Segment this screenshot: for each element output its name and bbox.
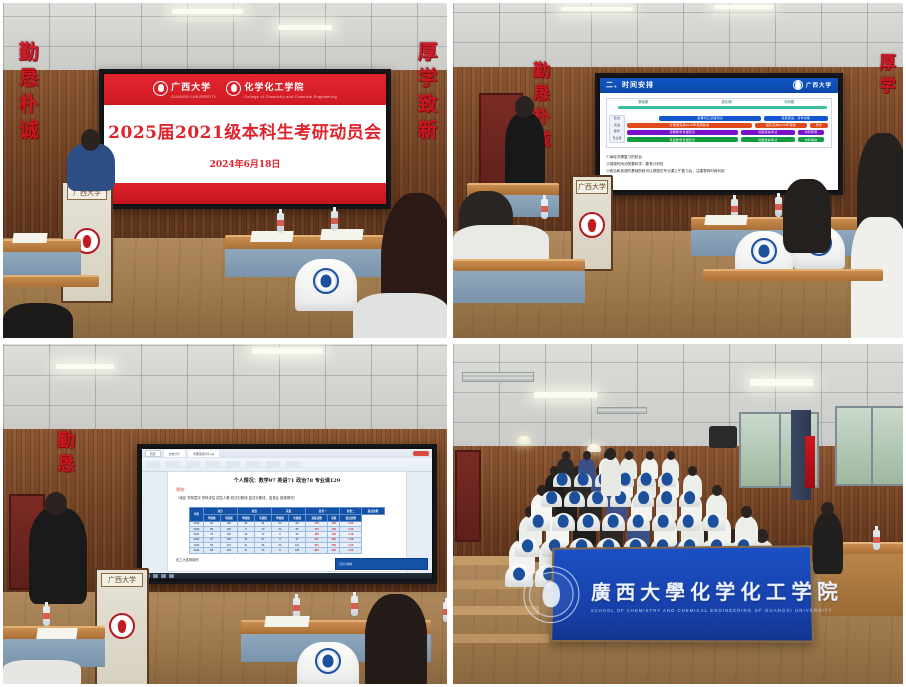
- row-label: 专业课: [612, 137, 621, 141]
- timeline-rows: 掌握词汇基础知识真题阅读、写作训练分题型完成2010年真题集训强化完成2010年…: [627, 115, 828, 144]
- college-emblem-icon: [659, 516, 669, 526]
- timeline-row: 分题型完成2010年真题集训强化完成2010年真题作文: [627, 123, 828, 128]
- college-emblem-icon: [226, 81, 241, 96]
- college-emblem-icon: [709, 516, 719, 526]
- water-bottle: [277, 213, 284, 233]
- table-sub-header: 专硕线: [220, 514, 237, 521]
- audience-member: [3, 660, 81, 687]
- ceiling-light: [172, 9, 243, 14]
- speaker-body: [29, 508, 87, 604]
- table-cell: 2024: [190, 548, 203, 553]
- college-emblem-icon: [593, 494, 602, 503]
- speaker-body: [505, 113, 545, 191]
- university-emblem-icon: [153, 81, 168, 96]
- desk: [703, 269, 883, 281]
- ceiling-light: [56, 364, 114, 369]
- projection-screen: 首页 文档分享 考研经验分享.ppt: [137, 444, 437, 584]
- timeline-segment: 掌握词汇基础知识: [659, 116, 760, 121]
- college-emblem-icon: [558, 475, 566, 483]
- audience-head: [756, 529, 768, 543]
- seat-cover: [679, 491, 700, 507]
- wall-calligraphy-left: 勤恳朴诚: [13, 41, 42, 171]
- college-name-cn: 化学化工学院: [244, 83, 304, 93]
- podium-seal-icon: [109, 613, 135, 639]
- seat-cover: [652, 513, 675, 531]
- university-name-cn: 广西大学: [171, 83, 211, 93]
- seat-cover: [627, 513, 650, 531]
- document-paragraph: （地区 学校层次 学科评估 招生人数 初试分数线 复试分数线、复录比 报录情况）: [176, 495, 398, 501]
- ceiling-light: [252, 348, 323, 354]
- app-titlebar: 首页 文档分享 考研经验分享.ppt: [142, 449, 432, 458]
- window-mullion: [779, 414, 781, 486]
- college-emblem-icon: [621, 475, 629, 483]
- audience-head: [625, 451, 633, 459]
- banner-title-en: SCHOOL OF CHEMISTRY AND CHEMICAL ENGINEE…: [591, 607, 844, 612]
- ribbon-button[interactable]: [186, 461, 200, 468]
- slide-notes: ①每轮次需复习的科目 ②强调时间分配要科学、要有计划性 ③政治和英语的基础阶段可…: [606, 154, 832, 174]
- slide-body: 基础期 强化期 冲刺期 政治 英语 数学 专业课 掌握词汇基础知识真题阅读、写作…: [600, 93, 838, 190]
- timeline-segment: 巩固数学基础知识: [627, 137, 737, 142]
- seat-cover: [297, 642, 359, 687]
- seat-cover: [553, 473, 571, 487]
- table-group-header: 政治: [237, 507, 271, 514]
- table-group-header: 总分: [203, 507, 237, 514]
- ceiling-light: [750, 379, 813, 387]
- ceiling: [3, 3, 447, 77]
- audience-head: [821, 502, 834, 516]
- panel-top-left: 勤恳朴诚 厚学致新 广西大学 GUANGXI UNIVERSITY: [0, 0, 450, 341]
- audience-head: [562, 451, 570, 459]
- table-group-header: 年份: [190, 507, 203, 521]
- table-sub-header: 学硕线: [237, 514, 254, 521]
- air-vent: [597, 407, 647, 414]
- air-vent: [462, 372, 534, 382]
- row-label: 英语: [614, 124, 620, 128]
- college-emblem-icon: [685, 494, 694, 503]
- speaker-box: [709, 426, 737, 448]
- audience-member: [353, 293, 449, 341]
- water-bottle: [331, 211, 338, 231]
- table-cell: 404: [328, 548, 340, 553]
- banner-text: 廣西大學化学化工学院 SCHOOL OF CHEMISTRY AND CHEMI…: [591, 575, 844, 613]
- podium: 广西大学: [571, 175, 613, 271]
- college-emblem-icon: [684, 516, 694, 526]
- university-name-en: GUANGXI UNIVERSITY: [171, 95, 216, 99]
- table-header: 年份总分政治英语业务一业务二复试比例 学硕线专硕线学硕线专硕线学硕线专硕线进复试…: [190, 507, 384, 521]
- timeline-segment: 真题模拟考试: [741, 137, 795, 142]
- slide-footer-band: [104, 183, 386, 204]
- wall-calligraphy-right: 厚学: [873, 53, 898, 143]
- timeline-segment: 作文: [810, 123, 828, 128]
- table-sub-header: 录取: [328, 514, 340, 521]
- timeline-segment: 冲刺预测: [798, 130, 824, 135]
- table-cell: 79: [254, 548, 271, 553]
- window: [835, 406, 906, 486]
- college-emblem-icon: [522, 541, 533, 552]
- ribbon-button[interactable]: [146, 461, 160, 468]
- axis-label: 基础期: [638, 99, 648, 104]
- table-row: 202458129377991056874041.30: [190, 548, 384, 553]
- speaker-head: [81, 129, 100, 151]
- college-emblem-icon: [609, 516, 619, 526]
- slide-date: 2024年6月18日: [104, 157, 386, 170]
- taskbar-icon[interactable]: [153, 574, 158, 578]
- ceiling-light: [714, 5, 773, 9]
- table-sub-header: 专硕线: [254, 514, 271, 521]
- college-emblem-icon: [315, 648, 341, 674]
- ceiling-grid: [3, 3, 447, 77]
- table-sub-header: 学硕线: [271, 514, 288, 521]
- paper-sheet: [250, 231, 294, 242]
- timeline-row-labels: 政治 英语 数学 专业课: [609, 115, 625, 144]
- stage-banner: 廣西大學化学化工学院 SCHOOL OF CHEMISTRY AND CHEMI…: [550, 545, 814, 642]
- college-name-en: College of Chemistry and Chemical Engine…: [244, 95, 337, 99]
- panel-bottom-right: 廣西大學化学化工学院 SCHOOL OF CHEMISTRY AND CHEMI…: [450, 341, 906, 687]
- water-bottle: [775, 197, 782, 217]
- college-emblem-icon: [662, 494, 671, 503]
- speaker-head: [515, 96, 534, 118]
- audience-head: [646, 451, 654, 459]
- timeline-segment: 冲刺串讲: [798, 137, 824, 142]
- photo-collage: 勤恳朴诚 厚学致新 广西大学 GUANGXI UNIVERSITY: [0, 0, 906, 687]
- paper-sheet: [36, 628, 78, 639]
- seat-cover: [564, 491, 585, 507]
- college-emblem-icon: [751, 238, 777, 264]
- water-bottle: [43, 606, 50, 626]
- ceiling-grid: [3, 344, 447, 436]
- seat-cover: [633, 491, 654, 507]
- table-sub-header: 进复试数: [306, 514, 328, 521]
- college-emblem-icon: [584, 516, 594, 526]
- side-door: [455, 450, 481, 542]
- audience-member: [365, 594, 427, 687]
- document-heading: 个人情况：数学97 英语71 政治78 专业课129: [176, 477, 398, 484]
- university-logo: 广西大学 GUANGXI UNIVERSITY: [153, 77, 216, 99]
- university-name-cn: 广西大学: [806, 81, 832, 89]
- paper-sheet: [264, 616, 310, 627]
- college-emblem-icon: [523, 566, 580, 623]
- college-emblem-icon: [313, 268, 339, 294]
- timeline-segment: 真题阅读、写作训练: [764, 116, 828, 121]
- timeline-chart: 基础期 强化期 冲刺期 政治 英语 数学 专业课 掌握词汇基础知识真题阅读、写作…: [606, 98, 832, 149]
- college-emblem-icon: [579, 475, 587, 483]
- podium-seal-icon: [579, 212, 605, 238]
- college-emblem-icon: [534, 516, 544, 526]
- desk: [3, 275, 99, 287]
- seat-cover: [656, 491, 677, 507]
- timeline-row: 掌握数学基础知识真题模拟考试冲刺预测: [627, 130, 828, 135]
- seat-cover: [527, 513, 550, 531]
- note-line: ①每轮次需复习的科目: [606, 154, 832, 161]
- app-ribbon: [142, 458, 432, 472]
- document-subheading: 择校：: [176, 487, 398, 493]
- ribbon-button[interactable]: [286, 461, 300, 468]
- document-slide: 首页 文档分享 考研经验分享.ppt: [142, 449, 432, 579]
- close-icon[interactable]: [413, 451, 429, 456]
- audience-head: [667, 451, 675, 459]
- ceiling: [453, 3, 903, 73]
- seat-cover: [677, 513, 700, 531]
- audience-head: [712, 485, 722, 496]
- water-bottle: [873, 530, 880, 550]
- panel-bottom-left: 勤恳 首页 文档分享 考研经验分享.ppt: [0, 341, 450, 687]
- timeline-row: 巩固数学基础知识真题模拟考试冲刺串讲: [627, 137, 828, 142]
- table-group-header: 英语: [271, 507, 305, 514]
- ribbon-button[interactable]: [226, 461, 240, 468]
- audience-member: [783, 179, 831, 253]
- university-emblem-icon: [793, 80, 803, 90]
- ribbon-button[interactable]: [266, 461, 280, 468]
- table-sub-header: 学硕线: [203, 514, 220, 521]
- audience-member: [813, 512, 843, 574]
- table-sub-header: 专硕线: [288, 514, 305, 521]
- table-group-header-row: 年份总分政治英语业务一业务二复试比例: [190, 507, 384, 514]
- ribbon-button[interactable]: [166, 461, 180, 468]
- table-group-header: 复试比例: [362, 507, 384, 514]
- document-page: 个人情况：数学97 英语71 政治78 专业课129 择校： （地区 学校层次 …: [168, 472, 406, 571]
- red-flag: [805, 436, 815, 488]
- water-bottle: [541, 199, 548, 219]
- college-emblem-icon: [639, 494, 648, 503]
- table-sub-header: 复试比例: [340, 514, 362, 521]
- standing-presenter: [601, 456, 621, 496]
- note-line: ②强调时间分配要科学、要有计划性: [606, 161, 832, 168]
- ribbon-button[interactable]: [246, 461, 260, 468]
- standing-presenter-head: [605, 448, 616, 460]
- stair-step: [453, 556, 517, 565]
- college-emblem-icon: [513, 568, 525, 580]
- seat-cover: [541, 491, 562, 507]
- ceiling: [3, 344, 447, 436]
- slide-title: 2025届2021级本科生考研动员会: [104, 118, 386, 143]
- speaker-head: [45, 492, 67, 516]
- seat-cover: [295, 259, 357, 311]
- seat-cover: [577, 513, 600, 531]
- ceiling-grid: [453, 3, 903, 73]
- app-tab[interactable]: 首页: [145, 450, 161, 456]
- score-table: 年份总分政治英语业务一业务二复试比例 学硕线专硕线学硕线专硕线学硕线专硕线进复试…: [189, 507, 384, 554]
- table-cell: 129: [220, 548, 237, 553]
- seat-cover: [515, 538, 540, 558]
- seat-cover: [552, 513, 575, 531]
- college-emblem-icon: [570, 494, 579, 503]
- college-emblem-icon: [642, 475, 650, 483]
- timeline-axis: 基础期 强化期 冲刺期: [618, 106, 826, 109]
- desk-front: [453, 271, 585, 303]
- projection-screen: 二、时间安排 广西大学 基础期 强化期 冲刺期 政治: [595, 73, 843, 195]
- row-label: 政治: [614, 117, 620, 121]
- timeline-segment: 真题模拟考试: [741, 130, 795, 135]
- timeline-segment: 强化完成2010年真题: [755, 123, 807, 128]
- table-body: 201991105354453591751051.252020861095705…: [190, 521, 384, 553]
- seat-cover: [658, 473, 676, 487]
- seat-cover: [637, 473, 655, 487]
- college-emblem-icon: [547, 494, 556, 503]
- audience-head: [688, 466, 697, 476]
- college-emblem-icon: [634, 516, 644, 526]
- ceiling-light: [534, 392, 597, 399]
- paper-sheet: [704, 215, 747, 225]
- taskbar-icon[interactable]: [161, 574, 166, 578]
- status-box: 幻灯片放映: [335, 558, 428, 570]
- table-sub-header-row: 学硕线专硕线学硕线专硕线学硕线专硕线进复试数录取复试比例: [190, 514, 384, 521]
- slide-header-logo: 广西大学: [793, 80, 832, 90]
- stair-step: [453, 634, 549, 643]
- wall-calligraphy-right: 厚学致新: [412, 41, 441, 191]
- table-cell: 1.30: [340, 548, 362, 553]
- axis-label: 冲刺期: [784, 99, 794, 104]
- app-tab[interactable]: 文档分享: [164, 450, 185, 456]
- water-bottle: [351, 596, 358, 616]
- left-pane: [142, 472, 168, 579]
- taskbar-icon[interactable]: [169, 574, 174, 578]
- table-cell: 37: [237, 548, 254, 553]
- water-bottle: [293, 598, 300, 618]
- projection-screen: 广西大学 GUANGXI UNIVERSITY 化学化工学院 College o…: [99, 69, 391, 209]
- banner-title-cn: 廣西大學化学化工学院: [591, 575, 843, 605]
- slide-logo-row: 广西大学 GUANGXI UNIVERSITY 化学化工学院 College o…: [104, 77, 386, 100]
- podium-plaque: 广西大学: [576, 180, 608, 194]
- ceiling-light: [278, 25, 331, 29]
- wall-lamp: [517, 436, 531, 444]
- app-tab[interactable]: 考研经验分享.ppt: [188, 450, 219, 456]
- slide-body: [104, 105, 386, 183]
- title-slide: 广西大学 GUANGXI UNIVERSITY 化学化工学院 College o…: [104, 74, 386, 204]
- college-emblem-icon: [663, 475, 671, 483]
- table-group-header: 业务一: [306, 507, 340, 514]
- timeline-slide: 二、时间安排 广西大学 基础期 强化期 冲刺期 政治: [600, 78, 838, 190]
- slide-header: 二、时间安排 广西大学: [600, 78, 838, 93]
- water-bottle: [443, 602, 450, 622]
- slide-header-title: 二、时间安排: [606, 80, 654, 90]
- podium-plaque: 广西大学: [101, 573, 143, 587]
- college-emblem-icon: [559, 516, 569, 526]
- table-group-header: 业务二: [340, 507, 362, 514]
- window-mullion: [871, 408, 873, 484]
- ribbon-button[interactable]: [206, 461, 220, 468]
- seat-cover: [602, 513, 625, 531]
- panel-top-right: 勤恳朴诚 厚学 二、时间安排 广西大学 基础期 强化期 冲刺期: [450, 0, 906, 341]
- college-logo: 化学化工学院 College of Chemistry and Chemical…: [226, 77, 337, 99]
- table-cell: 105: [288, 548, 305, 553]
- row-label: 数学: [614, 130, 620, 134]
- timeline-segment: 掌握数学基础知识: [627, 130, 737, 135]
- seat-cover: [574, 473, 592, 487]
- taskbar: [142, 573, 432, 580]
- status-text: 幻灯片放映: [339, 562, 352, 566]
- paper-sheet: [12, 233, 47, 243]
- axis-label: 强化期: [721, 99, 731, 104]
- seat-cover: [702, 513, 725, 531]
- desk: [453, 259, 585, 271]
- note-line: ③政治和英语的基础阶段可以穿插在专业课上午复习后，注重零碎时间利用: [606, 168, 832, 175]
- table-cell: 9: [271, 548, 288, 553]
- table-cell: 687: [306, 548, 328, 553]
- audience-member: [3, 303, 73, 341]
- table-cell: 58: [203, 548, 220, 553]
- timeline-row: 掌握词汇基础知识真题阅读、写作训练: [627, 116, 828, 121]
- ceiling-light: [561, 7, 633, 11]
- timeline-segment: 分题型完成2010年真题集训: [627, 123, 752, 128]
- paper-sheet: [320, 229, 364, 240]
- audience-head: [583, 451, 591, 459]
